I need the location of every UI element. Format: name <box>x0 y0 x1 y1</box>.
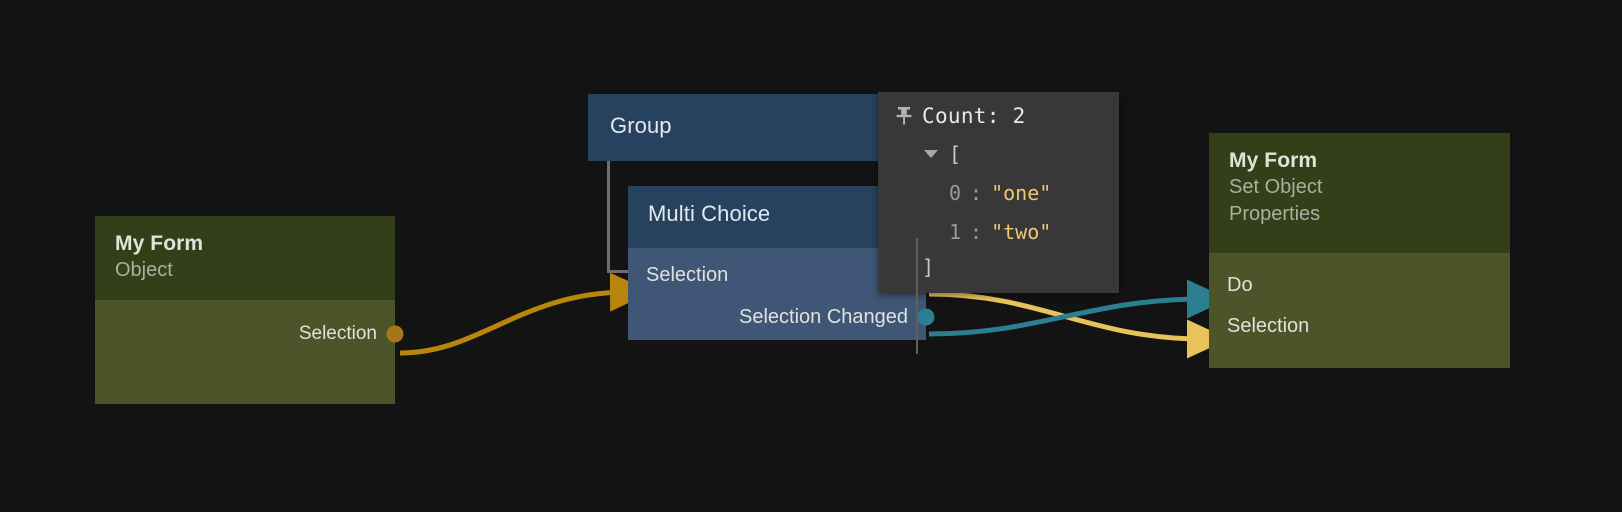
pin-icon[interactable] <box>895 106 913 126</box>
port-row-selection-input-right[interactable]: Selection <box>1209 306 1510 347</box>
tooltip-header: Count: 2 <box>878 101 1119 134</box>
node-my-form-object-title: My Form <box>115 230 375 257</box>
node-my-form-set-subtitle-line1: Set Object <box>1229 174 1490 200</box>
wire-selection-changed-to-do <box>929 299 1203 334</box>
port-label-selection: Selection <box>299 323 377 345</box>
tooltip-count-label: Count: 2 <box>922 104 1026 128</box>
node-my-form-object-subtitle: Object <box>115 257 375 283</box>
port-row-do-input[interactable]: Do <box>1209 265 1510 306</box>
tooltip-open-bracket: [ <box>949 142 961 166</box>
port-dot-selection-output[interactable] <box>387 326 404 343</box>
node-graph-canvas[interactable]: Group My Form Object Selection Multi Cho… <box>0 0 1622 512</box>
tooltip-entry-row: 0 : "one" <box>878 173 1119 212</box>
tooltip-entry-row: 1 : "two" <box>878 212 1119 251</box>
port-dot-selection-changed[interactable] <box>918 309 935 326</box>
port-row-selection-changed[interactable]: Selection Changed <box>628 296 926 338</box>
node-my-form-object[interactable]: My Form Object Selection <box>95 216 395 404</box>
port-label-selection-input: Selection <box>646 264 728 287</box>
node-my-form-set-header[interactable]: My Form Set Object Properties <box>1209 133 1510 253</box>
port-row-selection-output[interactable]: Selection <box>95 314 395 354</box>
tooltip-entry-colon: : <box>961 181 991 205</box>
tooltip-entry-key: 0 <box>949 181 961 205</box>
port-label-selection-right: Selection <box>1227 315 1309 338</box>
node-group-title: Group <box>610 112 868 141</box>
node-my-form-object-body: Selection <box>95 300 395 404</box>
tooltip-entry-value: "one" <box>991 181 1051 205</box>
node-group-header[interactable]: Group <box>588 94 888 161</box>
chevron-down-glyph <box>924 150 938 158</box>
wire-selection-to-multichoice <box>400 292 626 353</box>
tooltip-entry-key: 1 <box>949 220 961 244</box>
node-group[interactable]: Group <box>588 94 888 161</box>
pin-icon-svg <box>895 106 913 126</box>
node-my-form-object-header[interactable]: My Form Object <box>95 216 395 300</box>
tooltip-entry-value: "two" <box>991 220 1051 244</box>
port-label-do: Do <box>1227 274 1253 297</box>
value-inspector-tooltip[interactable]: Count: 2 [ 0 : "one" 1 : "two" ] <box>878 92 1119 293</box>
node-my-form-set-title: My Form <box>1229 147 1490 174</box>
wire-selection-out-to-set-properties <box>929 294 1203 339</box>
node-multi-choice-title: Multi Choice <box>648 200 906 229</box>
node-my-form-set-subtitle-line2: Properties <box>1229 201 1490 227</box>
tooltip-tree-guide-line <box>916 238 918 354</box>
tooltip-close-bracket: ] <box>878 251 1119 283</box>
tooltip-array-open-row[interactable]: [ <box>878 134 1119 173</box>
node-my-form-set-body: Do Selection <box>1209 253 1510 368</box>
node-my-form-set-object-properties[interactable]: My Form Set Object Properties Do Selecti… <box>1209 133 1510 368</box>
tooltip-entry-colon: : <box>961 220 991 244</box>
chevron-down-icon[interactable] <box>922 150 939 158</box>
port-label-selection-changed: Selection Changed <box>739 306 908 329</box>
